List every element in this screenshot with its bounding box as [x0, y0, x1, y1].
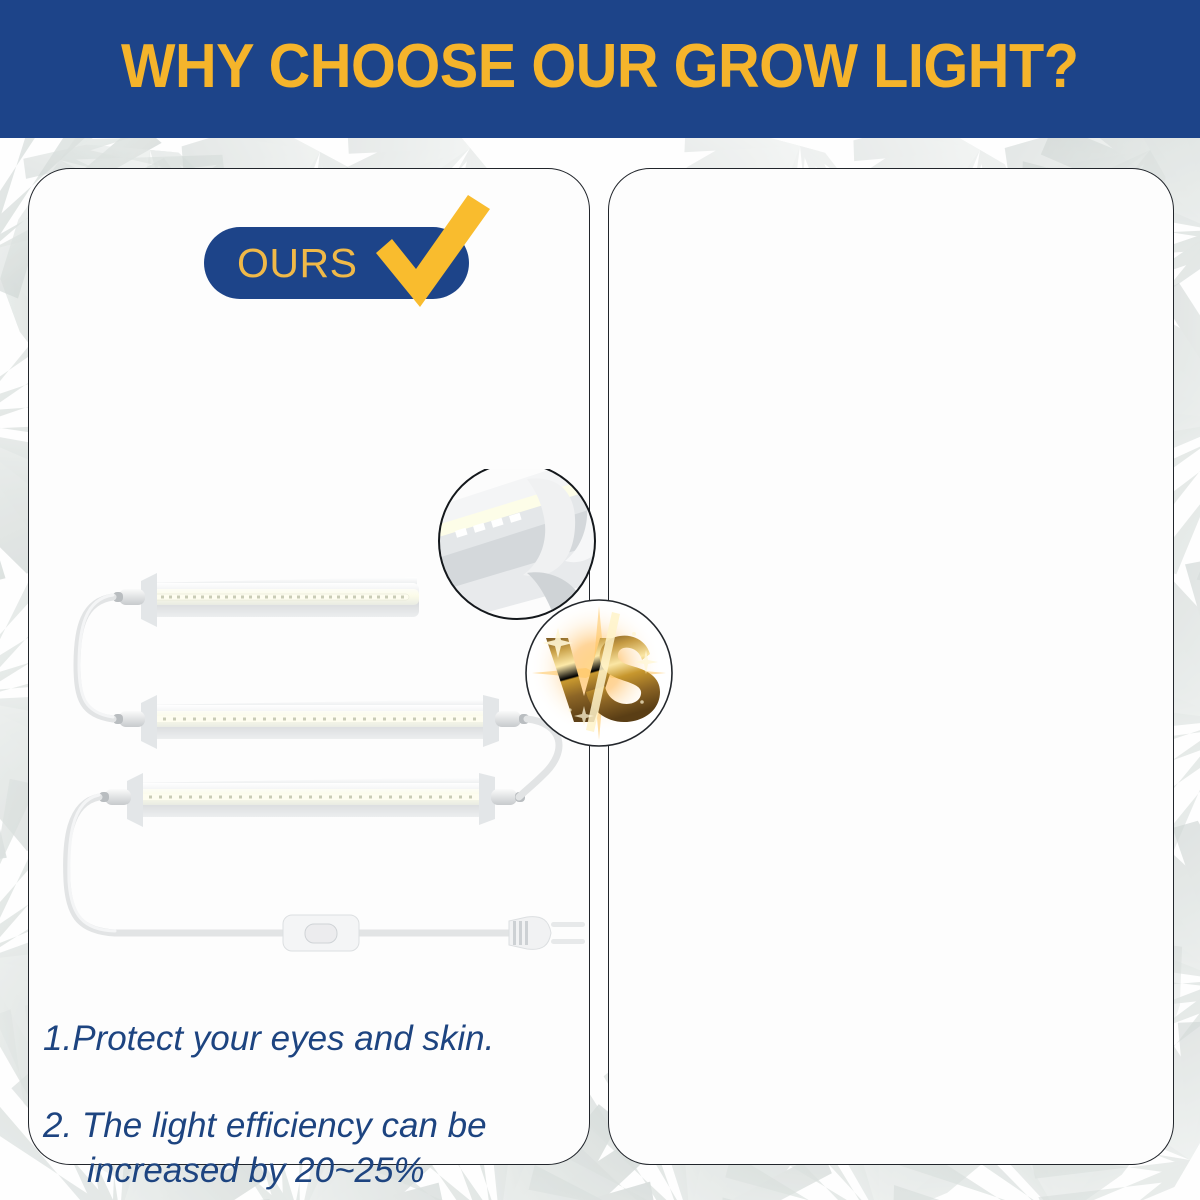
comparison-card-others: OTHERS [608, 168, 1174, 1165]
infographic-page: WHY CHOOSE OUR GROW LIGHT? OURS [0, 0, 1200, 1200]
ours-point-2c: with reflector. [43, 1193, 603, 1200]
header-banner: WHY CHOOSE OUR GROW LIGHT? [0, 0, 1200, 138]
ours-point-1: 1.Protect your eyes and skin. [43, 1017, 603, 1062]
checkmark-icon [372, 195, 492, 313]
caption-ours: 1.Protect your eyes and skin. 2. The lig… [43, 1017, 603, 1200]
badge-ours: OURS [204, 227, 469, 299]
vs-badge [524, 598, 674, 748]
ours-point-2b: increased by 20~25% [43, 1149, 603, 1194]
page-title: WHY CHOOSE OUR GROW LIGHT? [121, 36, 1078, 102]
comparison-card-ours: OURS [28, 168, 590, 1165]
ours-point-2a: 2. The light efficiency can be [43, 1106, 487, 1145]
badge-ours-label: OURS [237, 240, 357, 287]
